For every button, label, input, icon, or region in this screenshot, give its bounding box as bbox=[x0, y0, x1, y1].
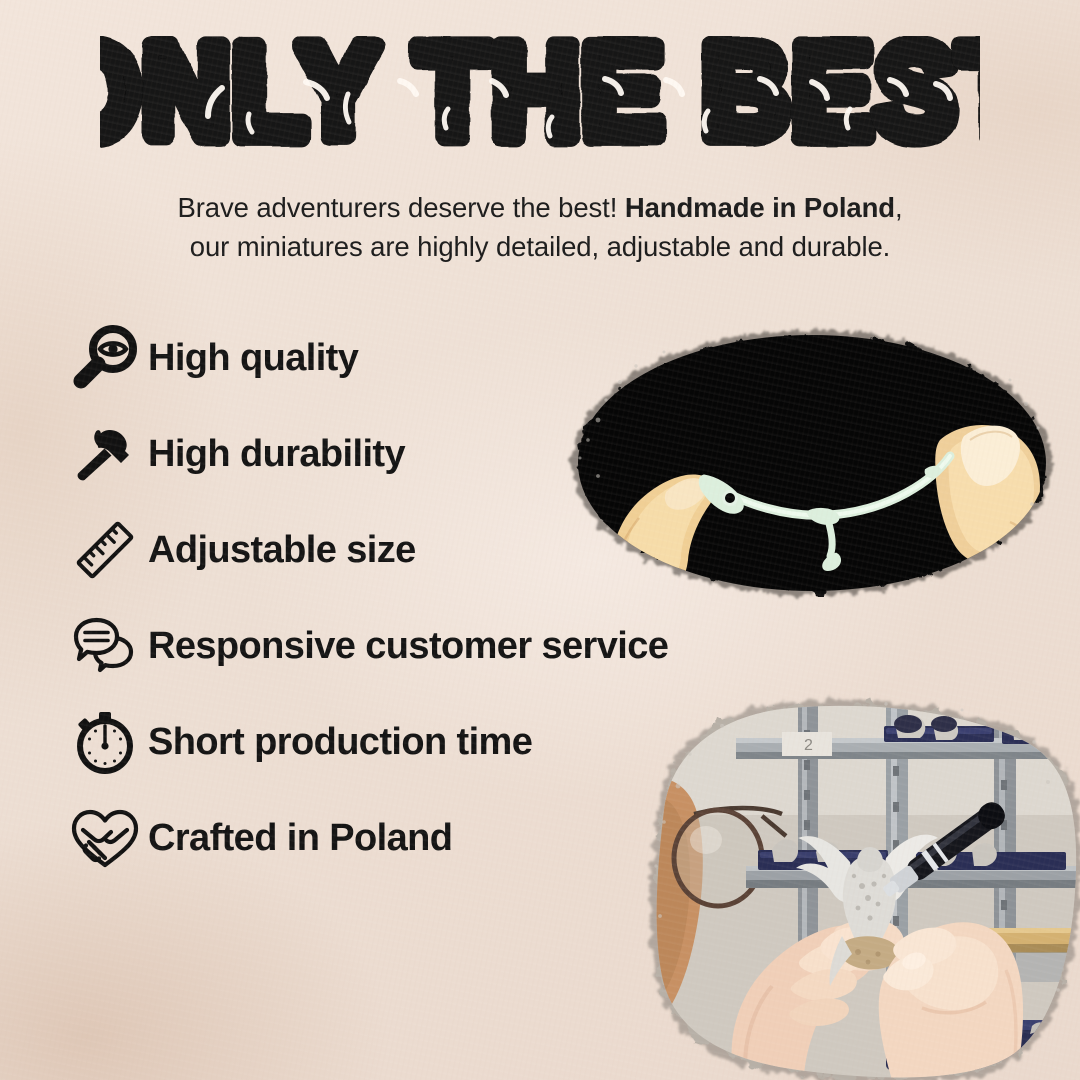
handshake-heart-icon bbox=[62, 802, 148, 874]
speech-bubbles-icon bbox=[62, 610, 148, 682]
feature-label: Short production time bbox=[148, 721, 532, 764]
svg-text:2: 2 bbox=[804, 737, 813, 754]
magnifier-eye-icon bbox=[62, 322, 148, 394]
subtitle-line1-lead: Brave adventurers deserve the best! bbox=[177, 192, 624, 223]
headline-text: ONLY THE BEST bbox=[100, 36, 980, 165]
painting-miniature-photo: 2 bbox=[586, 690, 1080, 1080]
flexible-miniature-photo bbox=[540, 308, 1080, 626]
poster-canvas: ONLY THE BEST bbox=[0, 0, 1080, 1080]
subtitle-line1-bold: Handmade in Poland bbox=[625, 192, 895, 223]
hammer-icon bbox=[62, 418, 148, 490]
page-title: ONLY THE BEST bbox=[0, 36, 1080, 166]
ruler-icon bbox=[62, 514, 148, 586]
feature-label: High quality bbox=[148, 337, 358, 380]
headline-artwork: ONLY THE BEST bbox=[100, 36, 980, 166]
feature-label: Adjustable size bbox=[148, 529, 416, 572]
subtitle: Brave adventurers deserve the best! Hand… bbox=[90, 188, 990, 266]
feature-label: Crafted in Poland bbox=[148, 817, 452, 860]
stopwatch-icon bbox=[62, 706, 148, 778]
feature-label: Responsive customer service bbox=[148, 625, 668, 668]
subtitle-line1-tail: , bbox=[895, 192, 903, 223]
subtitle-line2: our miniatures are highly detailed, adju… bbox=[190, 231, 890, 262]
feature-label: High durability bbox=[148, 433, 405, 476]
